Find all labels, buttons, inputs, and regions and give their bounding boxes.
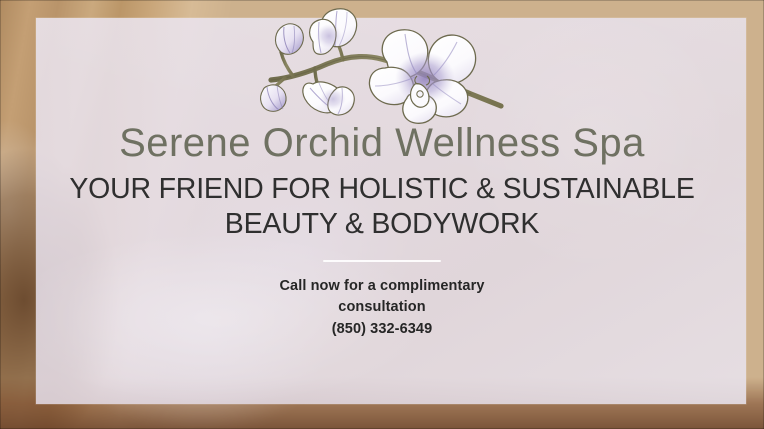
page-title-brand-name: Serene Orchid Wellness Spa [119,122,645,164]
tagline: YOUR FRIEND FOR HOLISTIC & SUSTAINABLE B… [69,172,694,243]
cta-line-1: Call now for a complimentary [279,276,484,297]
spa-advertisement-banner: Serene Orchid Wellness Spa YOUR FRIEND F… [0,0,764,429]
decorative-divider [323,260,441,262]
phone-number[interactable]: (850) 332-6349 [279,319,484,340]
call-to-action-block: Call now for a complimentary consultatio… [279,276,484,340]
orchid-branch-illustration-icon [257,6,507,124]
tagline-line-2: BEAUTY & BODYWORK [69,207,694,242]
cta-line-2: consultation [279,297,484,318]
advertisement-content: Serene Orchid Wellness Spa YOUR FRIEND F… [0,0,764,429]
tagline-line-1: YOUR FRIEND FOR HOLISTIC & SUSTAINABLE [69,172,694,207]
